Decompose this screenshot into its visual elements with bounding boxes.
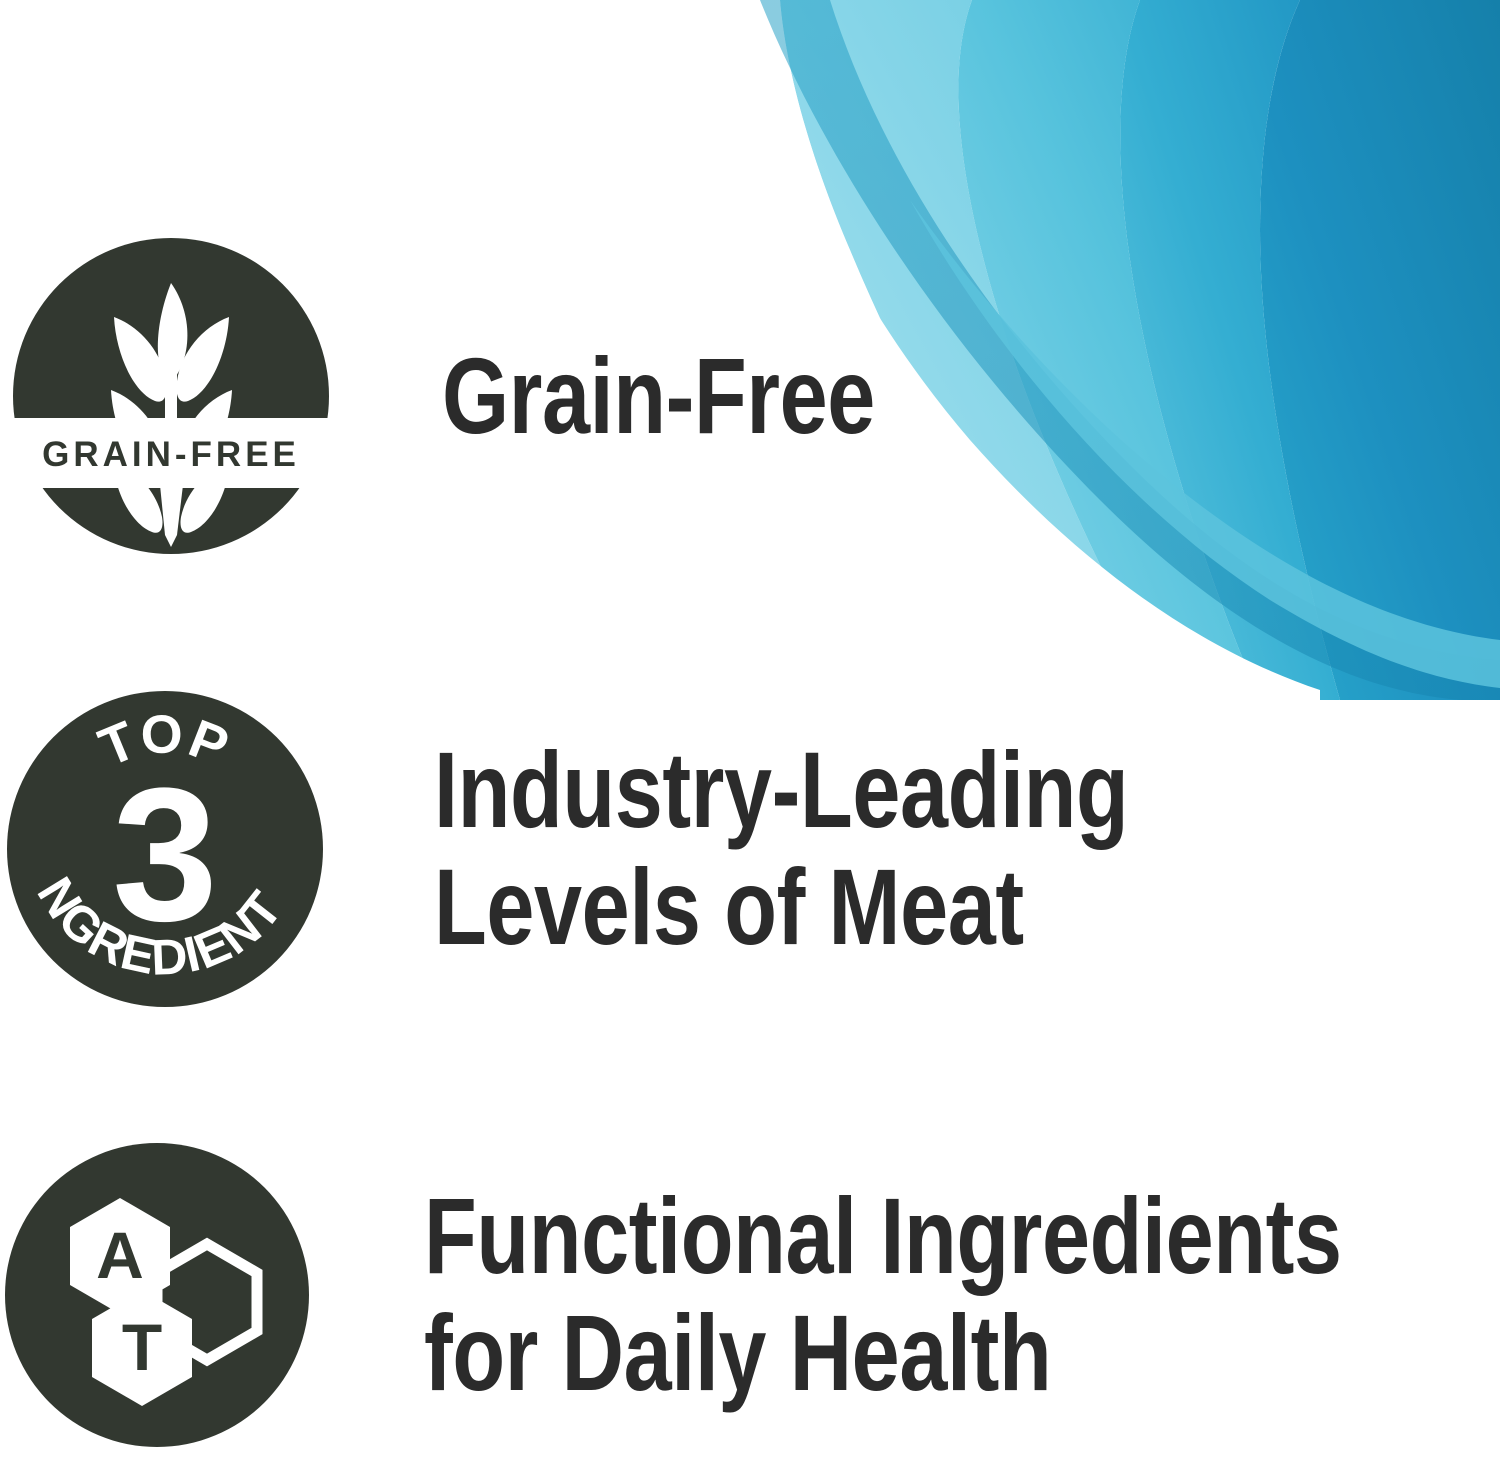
feature-row-grain-free: GRAIN-FREE Grain-Free — [0, 235, 983, 557]
heading-line: for Daily Health — [424, 1295, 1342, 1412]
hexagon-a-letter: A — [96, 1218, 144, 1292]
swoosh-band-light — [958, 0, 1260, 700]
hexagon-t-letter: T — [122, 1310, 162, 1384]
feature-row-industry-leading-meat: TOP 3 INGREDIENTS Industry-Leading Level… — [0, 688, 1302, 1010]
heading-line: Functional Ingredients — [424, 1178, 1342, 1295]
grain-free-badge-label: GRAIN-FREE — [42, 435, 300, 474]
grain-free-badge: GRAIN-FREE — [10, 235, 332, 557]
heading-line: Grain-Free — [442, 338, 875, 455]
top-3-ingredients-badge: TOP 3 INGREDIENTS — [4, 688, 326, 1010]
feature-heading-industry-leading-meat: Industry-Leading Levels of Meat — [434, 732, 1128, 965]
heading-line: Levels of Meat — [434, 849, 1128, 966]
heading-line: Industry-Leading — [434, 732, 1128, 849]
functional-ingredients-badge: A T — [2, 1140, 312, 1450]
feature-callout-graphic: GRAIN-FREE Grain-Free TOP 3 — [0, 0, 1500, 1465]
feature-heading-functional-ingredients: Functional Ingredients for Daily Health — [424, 1178, 1342, 1411]
feature-row-functional-ingredients: A T Functional Ingredients for Daily Hea… — [0, 1140, 1500, 1450]
swoosh-band-dark — [1260, 0, 1500, 700]
swoosh-band-mid — [1120, 0, 1340, 700]
feature-heading-grain-free: Grain-Free — [442, 338, 875, 455]
swoosh-tail-highlight — [910, 200, 1500, 688]
